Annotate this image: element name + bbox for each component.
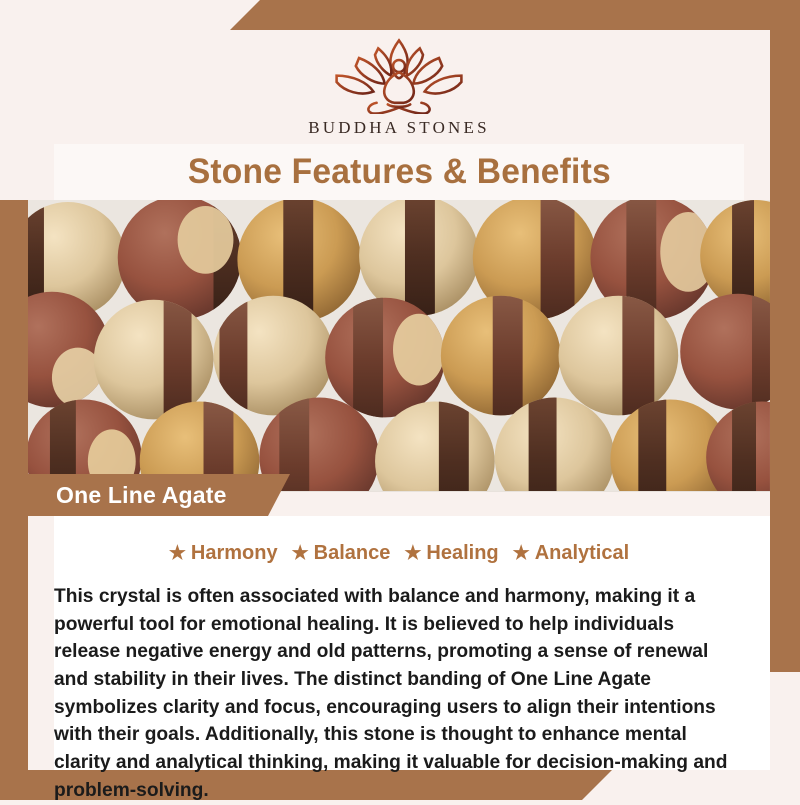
frame-right-bar xyxy=(770,0,800,672)
product-name-banner: One Line Agate xyxy=(28,474,290,516)
product-name: One Line Agate xyxy=(28,482,227,509)
brand-name: BUDDHA STONES xyxy=(308,118,490,138)
agate-beads-image xyxy=(28,200,770,491)
keyword-analytical: ★ Analytical xyxy=(513,542,630,565)
keyword-label: Analytical xyxy=(535,542,629,565)
keyword-healing: ★ Healing xyxy=(404,542,498,565)
frame-left-bar xyxy=(0,200,28,800)
star-icon: ★ xyxy=(513,544,530,563)
card-inner: BUDDHA STONES Stone Features & Benefits xyxy=(28,30,770,770)
keyword-label: Healing xyxy=(426,542,498,565)
keyword-balance: ★ Balance xyxy=(292,542,391,565)
keyword-label: Harmony xyxy=(191,542,278,565)
product-feature-card: BUDDHA STONES Stone Features & Benefits xyxy=(0,0,800,800)
description-panel: ★ Harmony ★ Balance ★ Healing ★ Analytic… xyxy=(54,516,770,770)
frame-top-bar xyxy=(230,0,800,30)
keyword-harmony: ★ Harmony xyxy=(169,542,278,565)
page-title: Stone Features & Benefits xyxy=(187,152,610,192)
star-icon: ★ xyxy=(169,544,186,563)
description-text: This crystal is often associated with ba… xyxy=(54,583,738,805)
star-icon: ★ xyxy=(292,544,309,563)
title-band: Stone Features & Benefits xyxy=(54,144,744,200)
brand-block: BUDDHA STONES xyxy=(28,30,770,148)
hero-photo xyxy=(28,200,770,492)
keyword-row: ★ Harmony ★ Balance ★ Healing ★ Analytic… xyxy=(54,542,748,565)
lotus-meditation-icon xyxy=(319,34,479,114)
star-icon: ★ xyxy=(404,544,421,563)
keyword-label: Balance xyxy=(314,542,391,565)
